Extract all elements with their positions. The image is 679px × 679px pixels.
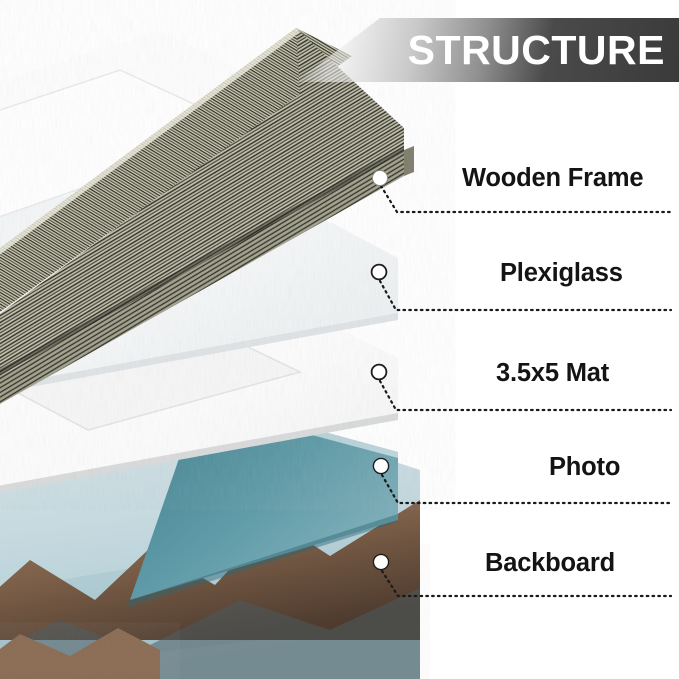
callout-label-plexiglass: Plexiglass xyxy=(500,251,623,295)
callout-label-photo: Photo xyxy=(549,445,620,489)
infographic-canvas: STRUCTURE Wooden Frame Plexiglass 3.5x5 … xyxy=(0,0,679,679)
callout-label-mat: 3.5x5 Mat xyxy=(496,351,609,395)
callout-label-wooden-frame: Wooden Frame xyxy=(462,156,643,200)
callout-label-backboard: Backboard xyxy=(485,541,615,585)
